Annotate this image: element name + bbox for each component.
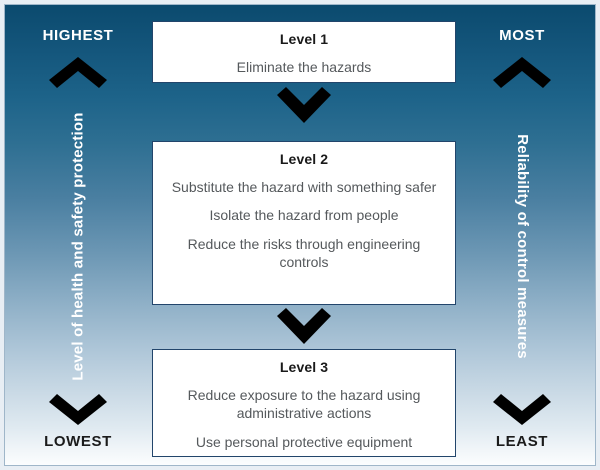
- left-axis-label-text: Level of health and safety protection: [70, 112, 87, 380]
- chevron-down-icon: [275, 308, 333, 346]
- left-axis-bottom-label: LOWEST: [5, 433, 151, 450]
- diagram-panel: HIGHEST Level of health and safety prote…: [4, 4, 596, 466]
- right-axis-label-text: Reliability of control measures: [514, 134, 531, 359]
- left-axis-vertical-label: Level of health and safety protection: [5, 103, 151, 389]
- level-title: Level 2: [163, 151, 445, 167]
- right-axis-column: MOST Reliability of control measures LEA…: [449, 5, 595, 466]
- level-title: Level 3: [163, 359, 445, 375]
- level-item: Reduce exposure to the hazard using admi…: [163, 386, 445, 423]
- right-axis-vertical-label: Reliability of control measures: [449, 103, 595, 389]
- chevron-down-icon: [275, 87, 333, 125]
- level-box: Level 1 Eliminate the hazards: [152, 21, 456, 83]
- chevron-up-icon: [47, 55, 109, 89]
- chevron-down-icon: [491, 393, 553, 427]
- chevron-up-icon: [491, 55, 553, 89]
- level-box: Level 2 Substitute the hazard with somet…: [152, 141, 456, 305]
- level-title: Level 1: [163, 31, 445, 47]
- level-item: Reduce the risks through engineering con…: [163, 235, 445, 272]
- right-axis-bottom-label: LEAST: [449, 433, 595, 450]
- level-stack: Level 1 Eliminate the hazards Level 2 Su…: [152, 5, 456, 466]
- level-item: Use personal protective equipment: [163, 433, 445, 451]
- diagram-canvas: HIGHEST Level of health and safety prote…: [0, 0, 600, 470]
- left-axis-column: HIGHEST Level of health and safety prote…: [5, 5, 151, 466]
- chevron-down-icon: [47, 393, 109, 427]
- right-axis-top-label: MOST: [449, 27, 595, 44]
- left-axis-top-label: HIGHEST: [5, 27, 151, 44]
- level-item: Substitute the hazard with something saf…: [163, 178, 445, 196]
- level-box: Level 3 Reduce exposure to the hazard us…: [152, 349, 456, 457]
- level-item: Eliminate the hazards: [163, 58, 445, 76]
- level-item: Isolate the hazard from people: [163, 206, 445, 224]
